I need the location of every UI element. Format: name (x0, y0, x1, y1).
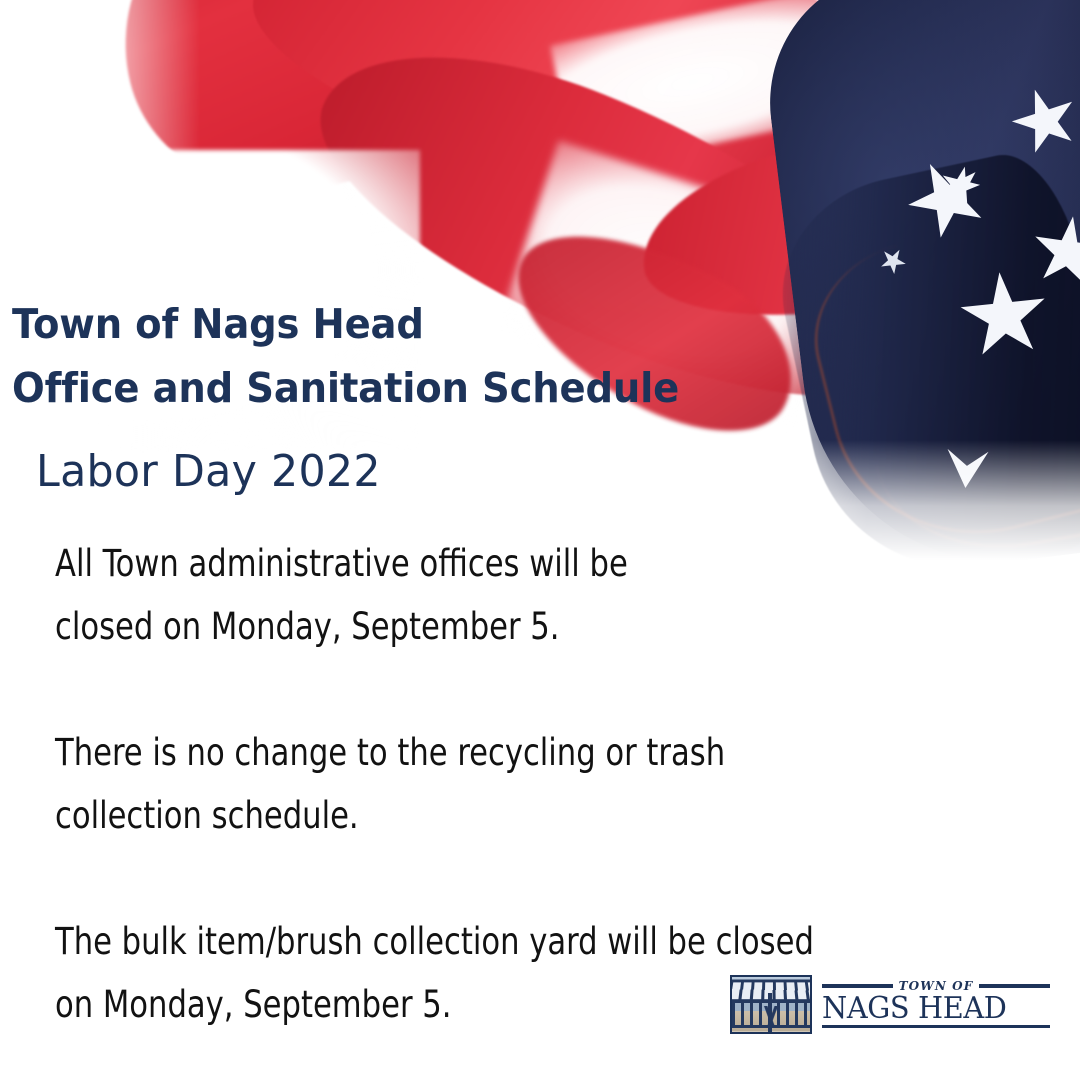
page-title-line-1: Town of Nags Head (12, 292, 679, 356)
announcement-paragraph: All Town administrative offices will be … (55, 532, 952, 658)
paragraph-line: All Town administrative offices will be (55, 532, 952, 595)
logo-pier-railing-diagonals (732, 1006, 810, 1028)
flag-star-icon (895, 147, 999, 251)
pier-pavilion-icon (730, 975, 812, 1034)
flag-star-icon (1003, 79, 1080, 162)
logo-rule-bottom (822, 1025, 1050, 1028)
flag-star-icon (956, 268, 1053, 365)
flag-star-icon (1027, 211, 1080, 292)
paragraph-line: There is no change to the recycling or t… (55, 721, 952, 784)
flag-red-stripe-4 (630, 113, 1050, 337)
flag-red-stripe-2 (213, 0, 1016, 278)
flag-red-stripe-1 (86, 0, 583, 227)
poster-canvas: Town of Nags Head Office and Sanitation … (0, 0, 1080, 1080)
flag-white-stripe-1 (550, 0, 900, 173)
page-title-line-2: Office and Sanitation Schedule (12, 356, 679, 420)
flag-union-canton (755, 0, 1080, 560)
flag-star-icon (936, 162, 984, 210)
page-subtitle: Labor Day 2022 (36, 444, 381, 500)
flag-star-icon (875, 243, 911, 279)
logo-name-text: NAGS HEAD (822, 994, 1041, 1025)
logo-name-full: NAGS HEAD (822, 991, 1006, 1026)
flag-star-partial-icon (938, 440, 995, 490)
logo-rule-right (979, 984, 1050, 988)
logo-rule-left (822, 984, 893, 988)
announcement-paragraph: There is no change to the recycling or t… (55, 721, 952, 847)
flag-stitched-hem (795, 210, 1080, 560)
page-title: Town of Nags Head Office and Sanitation … (12, 292, 679, 420)
announcement-body: All Town administrative offices will be … (55, 532, 952, 1036)
logo-wordmark: TOWN OF NAGS HEAD (822, 980, 1050, 1029)
paragraph-line: collection schedule. (55, 784, 952, 847)
flag-canton-fold (762, 143, 1080, 560)
paragraph-line: closed on Monday, September 5. (55, 595, 952, 658)
paragraph-line: The bulk item/brush collection yard will… (55, 910, 952, 973)
town-of-nags-head-logo: TOWN OF NAGS HEAD (730, 972, 1050, 1036)
